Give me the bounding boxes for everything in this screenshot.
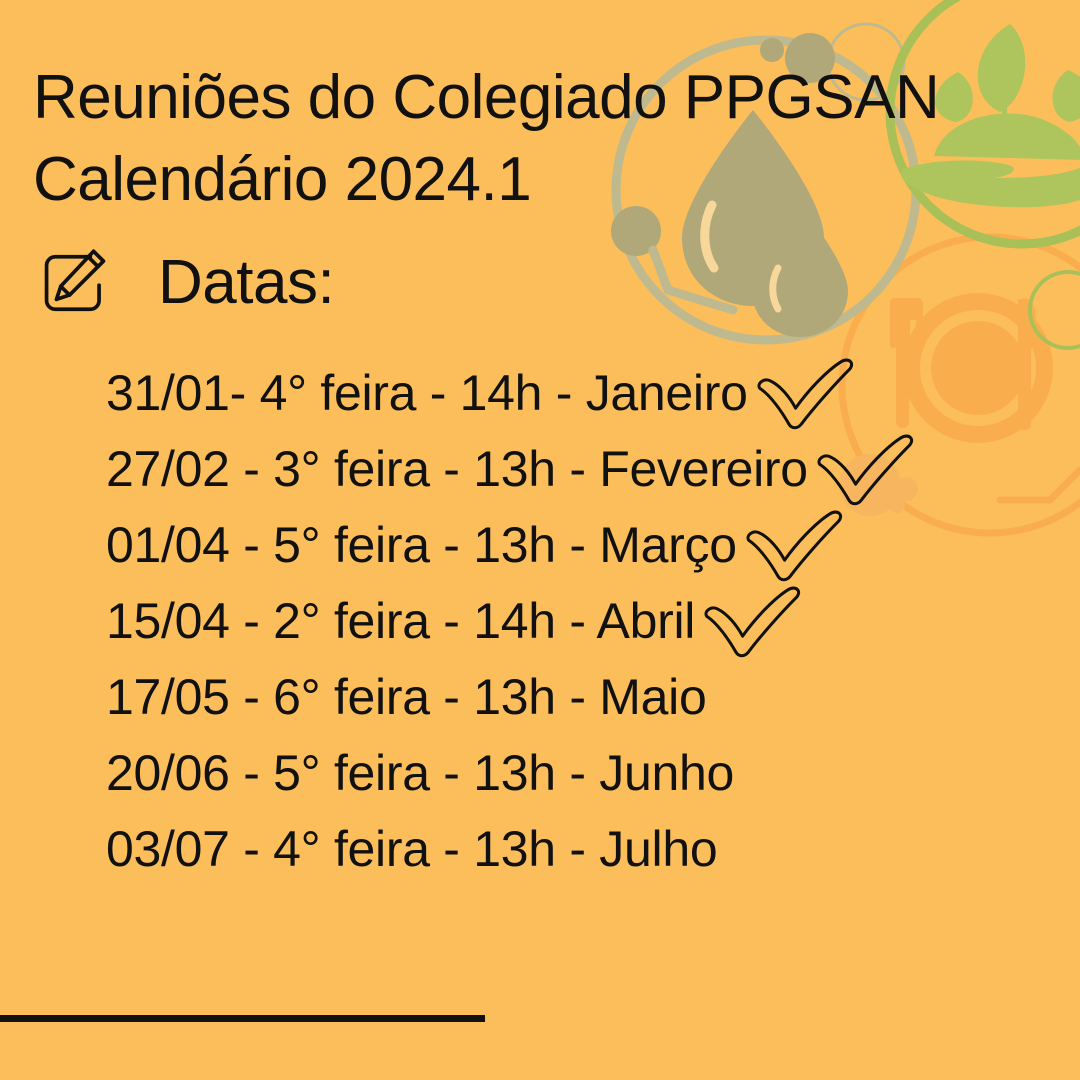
page-title: Reuniões do Colegiado PPGSAN Calendário … bbox=[33, 57, 1033, 221]
datas-label: Datas: bbox=[158, 248, 334, 318]
meeting-date-row: 27/02 - 3° feira - 13h - Fevereiro bbox=[106, 431, 918, 507]
checkmark-icon bbox=[743, 506, 847, 584]
pencil-edit-icon bbox=[40, 248, 110, 318]
datas-section-header: Datas: bbox=[40, 248, 334, 318]
bottom-divider bbox=[0, 1015, 485, 1022]
meeting-date-text: 01/04 - 5° feira - 13h - Março bbox=[106, 515, 737, 575]
meeting-date-text: 03/07 - 4° feira - 13h - Julho bbox=[106, 819, 717, 879]
poster-canvas: Reuniões do Colegiado PPGSAN Calendário … bbox=[0, 0, 1080, 1080]
meeting-date-text: 15/04 - 2° feira - 14h - Abril bbox=[106, 591, 695, 651]
meeting-date-row: 01/04 - 5° feira - 13h - Março bbox=[106, 507, 918, 583]
meeting-date-text: 17/05 - 6° feira - 13h - Maio bbox=[106, 667, 706, 727]
meeting-date-row: 03/07 - 4° feira - 13h - Julho bbox=[106, 811, 918, 887]
meeting-date-text: 27/02 - 3° feira - 13h - Fevereiro bbox=[106, 439, 808, 499]
meeting-date-text: 20/06 - 5° feira - 13h - Junho bbox=[106, 743, 734, 803]
checkmark-icon bbox=[814, 430, 918, 508]
checkmark-icon bbox=[754, 354, 858, 432]
checkmark-icon bbox=[701, 582, 805, 660]
meeting-date-row: 15/04 - 2° feira - 14h - Abril bbox=[106, 583, 918, 659]
title-line-1: Reuniões do Colegiado PPGSAN bbox=[33, 57, 1033, 139]
meeting-date-row: 31/01- 4° feira - 14h - Janeiro bbox=[106, 355, 918, 431]
meeting-dates-list: 31/01- 4° feira - 14h - Janeiro 27/02 - … bbox=[106, 355, 918, 887]
meeting-date-text: 31/01- 4° feira - 14h - Janeiro bbox=[106, 363, 748, 423]
title-line-2: Calendário 2024.1 bbox=[33, 139, 1033, 221]
meeting-date-row: 17/05 - 6° feira - 13h - Maio bbox=[106, 659, 918, 735]
meeting-date-row: 20/06 - 5° feira - 13h - Junho bbox=[106, 735, 918, 811]
